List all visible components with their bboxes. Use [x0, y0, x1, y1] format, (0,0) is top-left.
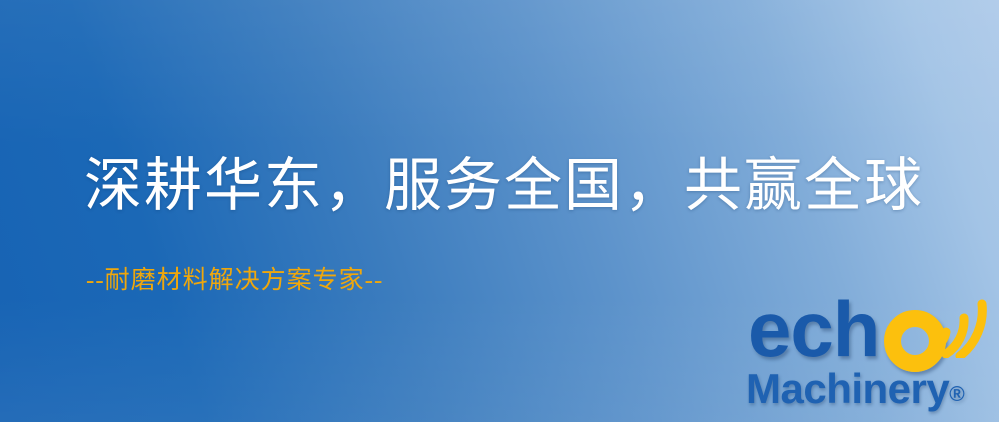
logo-machinery-text: Machinery	[746, 365, 949, 412]
banner-subtitle: --耐磨材料解决方案专家--	[86, 266, 383, 296]
banner-headline: 深耕华东，服务全国，共赢全球	[84, 152, 924, 220]
logo-wordmark: echo	[744, 296, 999, 376]
logo-echo-prefix: ech	[748, 285, 879, 373]
logo-echo-waves-icon	[930, 292, 999, 358]
promo-banner: 深耕华东，服务全国，共赢全球 --耐磨材料解决方案专家-- echo Machi…	[0, 0, 999, 422]
logo-brand-line: Machinery®	[746, 366, 965, 418]
company-logo: echo Machinery®	[744, 296, 999, 422]
logo-registered-mark: ®	[949, 383, 964, 406]
